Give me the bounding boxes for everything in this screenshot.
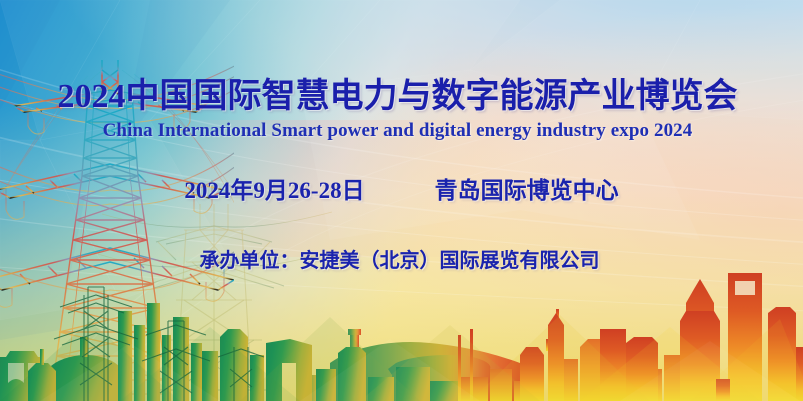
event-organizer: 承办单位：安捷美（北京）国际展览有限公司: [0, 248, 799, 274]
banner-title-english: China International Smart power and digi…: [0, 119, 795, 143]
event-date: 2024年9月26-28日: [184, 177, 364, 205]
text-layer: 2024中国国际智慧电力与数字能源产业博览会 China Internation…: [0, 0, 803, 401]
banner-title-chinese: 2024中国国际智慧电力与数字能源产业博览会: [0, 77, 795, 117]
expo-banner: 2024中国国际智慧电力与数字能源产业博览会 China Internation…: [0, 0, 803, 401]
event-meta-row: 2024年9月26-28日 青岛国际博览中心: [0, 177, 803, 205]
event-venue: 青岛国际博览中心: [435, 177, 619, 205]
